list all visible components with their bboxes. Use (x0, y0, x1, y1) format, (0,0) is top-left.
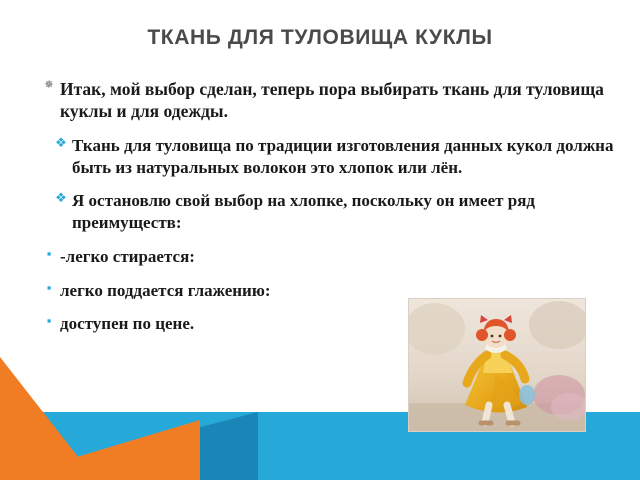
slide: Ткань для туловища куклы ✵ Итак, мой выб… (0, 0, 640, 480)
list-item-text: Ткань для туловища по традиции изготовле… (72, 135, 618, 179)
list-item: ▪ -легко стирается: (38, 246, 618, 268)
bullet-diamond-icon: ❖ (50, 190, 72, 207)
doll-photo-illustration (409, 299, 585, 431)
bullet-star-icon: ✵ (38, 78, 60, 92)
bullet-square-icon: ▪ (38, 280, 60, 297)
list-item: ✵ Итак, мой выбор сделан, теперь пора вы… (38, 78, 618, 123)
spacer (38, 180, 618, 190)
spacer (38, 236, 618, 246)
spacer (38, 125, 618, 135)
spacer (38, 270, 618, 280)
page-title: Ткань для туловища куклы (0, 26, 640, 50)
list-item: ❖ Ткань для туловища по традиции изготов… (50, 135, 618, 179)
bullet-diamond-icon: ❖ (50, 135, 72, 152)
decor-orange-triangle-left (0, 357, 96, 480)
bullet-square-icon: ▪ (38, 313, 60, 330)
list-item-text: -легко стирается: (60, 246, 618, 268)
list-item-text: Я остановлю свой выбор на хлопке, поскол… (72, 190, 618, 234)
bullet-square-icon: ▪ (38, 246, 60, 263)
list-item-text: Итак, мой выбор сделан, теперь пора выби… (60, 78, 618, 123)
list-item: ❖ Я остановлю свой выбор на хлопке, поск… (50, 190, 618, 234)
doll-photo (408, 298, 586, 432)
